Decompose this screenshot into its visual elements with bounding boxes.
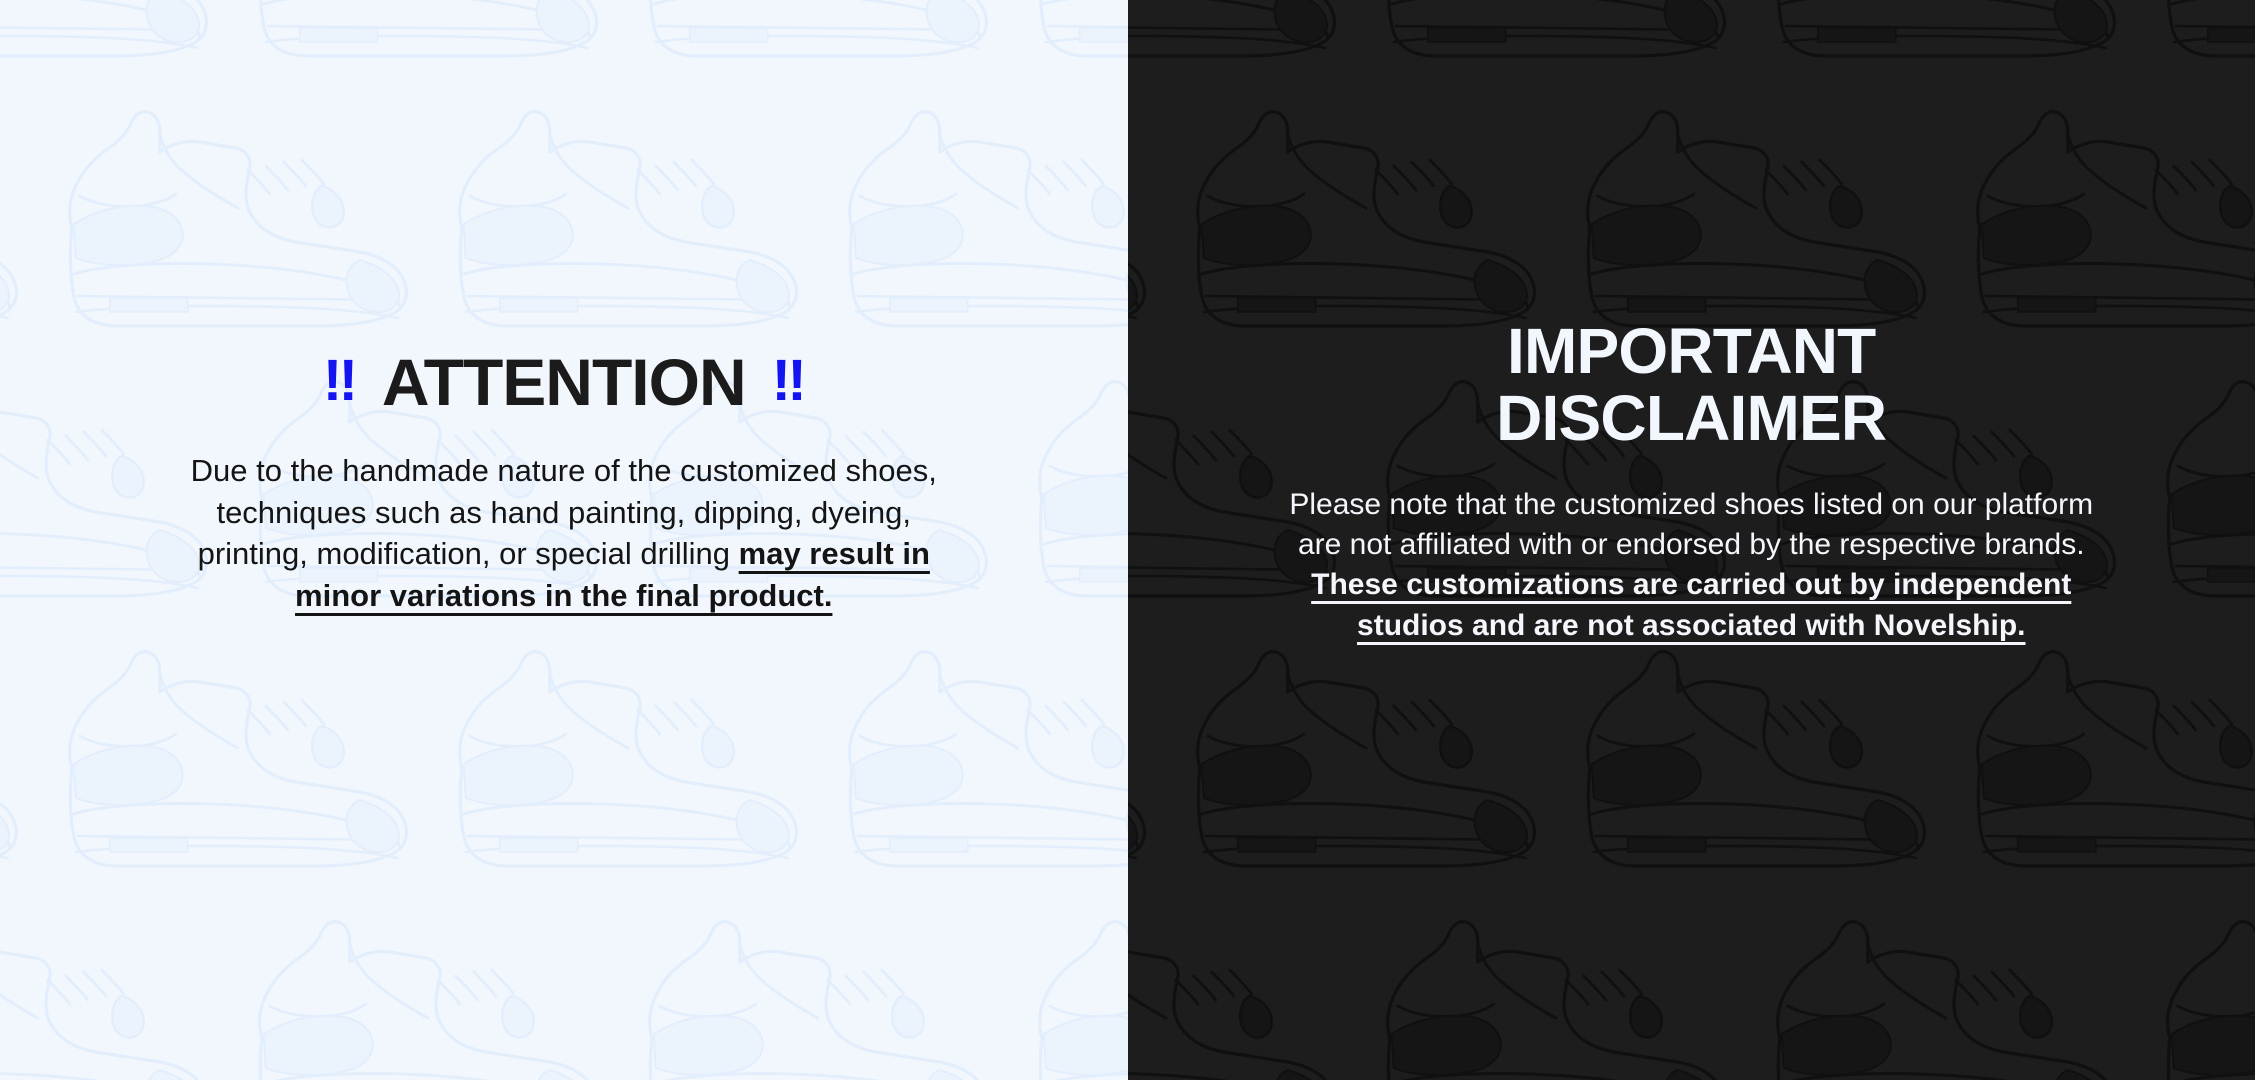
double-exclamation-left-icon: ‼ bbox=[323, 352, 356, 410]
disclaimer-heading-line2: DISCLAIMER bbox=[1496, 382, 1886, 454]
disclaimer-heading-line1: IMPORTANT bbox=[1507, 315, 1875, 387]
attention-panel: ‼ ATTENTION ‼ Due to the handmade nature… bbox=[0, 0, 1128, 1080]
attention-heading: ‼ ATTENTION ‼ bbox=[323, 349, 805, 415]
attention-body: Due to the handmade nature of the custom… bbox=[164, 450, 964, 616]
attention-heading-text: ATTENTION bbox=[382, 349, 746, 415]
disclaimer-content: IMPORTANT DISCLAIMER Please note that th… bbox=[1128, 0, 2255, 646]
attention-content: ‼ ATTENTION ‼ Due to the handmade nature… bbox=[0, 0, 1128, 616]
double-exclamation-right-icon: ‼ bbox=[772, 352, 805, 410]
disclaimer-body-normal: Please note that the customized shoes li… bbox=[1289, 488, 2093, 561]
disclaimer-body: Please note that the customized shoes li… bbox=[1286, 485, 2096, 646]
promo-banner: ‼ ATTENTION ‼ Due to the handmade nature… bbox=[0, 0, 2255, 1080]
disclaimer-body-emphasis: These customizations are carried out by … bbox=[1311, 568, 2071, 641]
disclaimer-panel: IMPORTANT DISCLAIMER Please note that th… bbox=[1128, 0, 2255, 1080]
disclaimer-heading: IMPORTANT DISCLAIMER bbox=[1496, 318, 1886, 451]
